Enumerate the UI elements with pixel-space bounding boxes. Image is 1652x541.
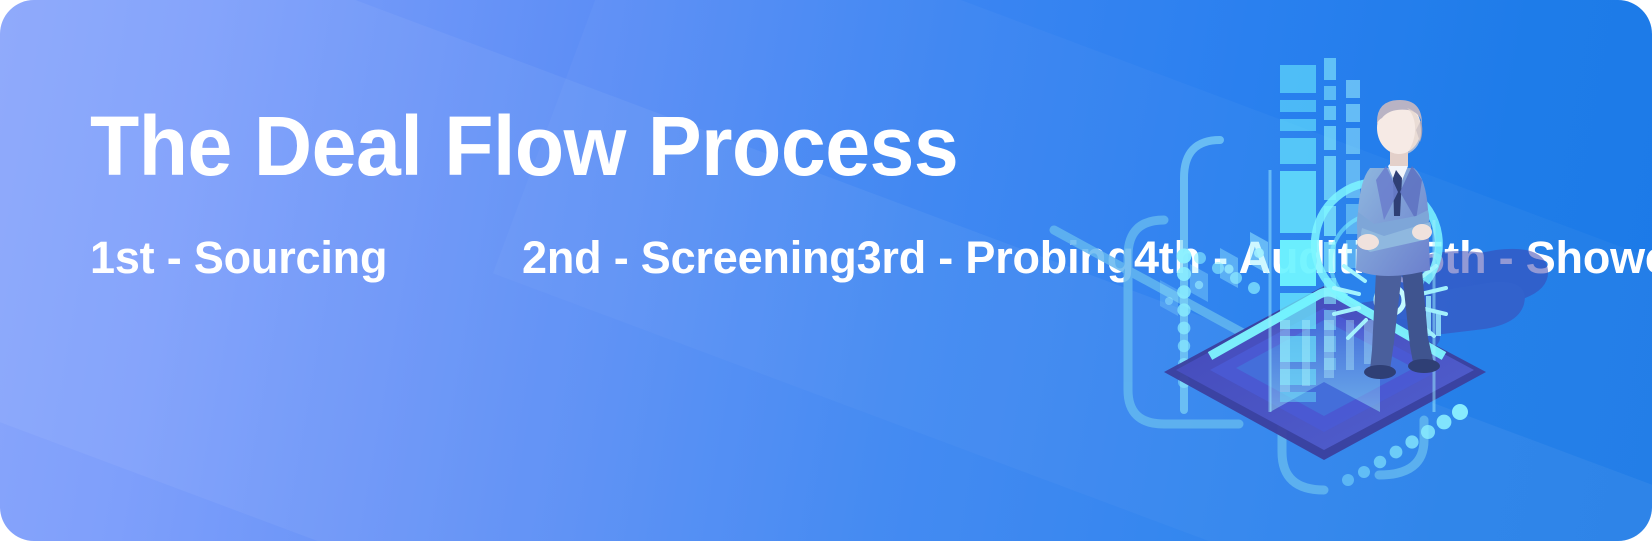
banner: The Deal Flow Process 1st - Sourcing 2nd… [0, 0, 1652, 541]
step-item-1: 1st - Sourcing [90, 228, 522, 287]
banner-content: The Deal Flow Process 1st - Sourcing 2nd… [0, 0, 1652, 541]
isometric-data-platform-illustration [1024, 20, 1634, 520]
step-item-2: 2nd - Screening [522, 228, 857, 287]
page-title: The Deal Flow Process [90, 98, 958, 194]
particle-chevrons [1160, 232, 1268, 316]
